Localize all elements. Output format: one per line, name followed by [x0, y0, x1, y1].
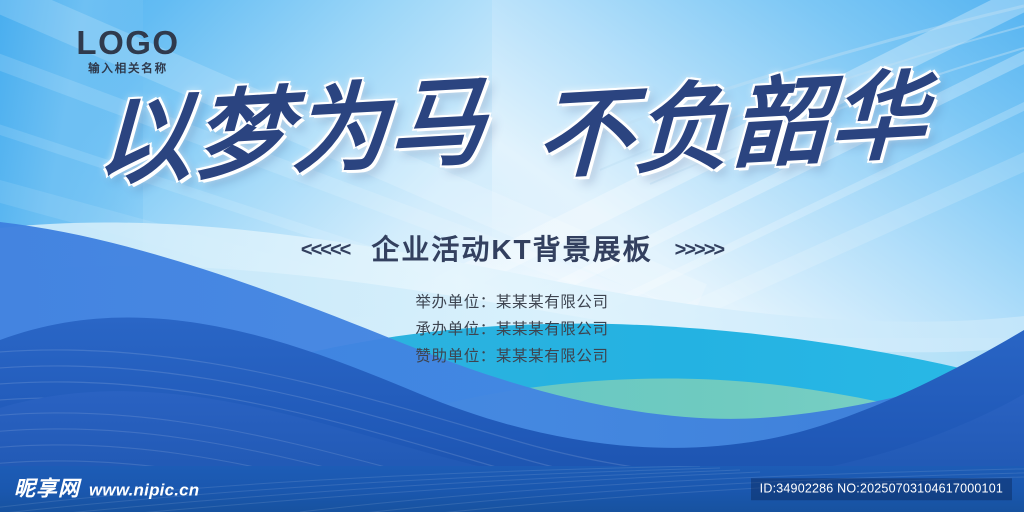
- logo-subtitle: 输入相关名称: [58, 64, 198, 76]
- organizer-host-line: 举办单位：某某某有限公司: [415, 292, 608, 314]
- logo-wordmark: LOGO: [58, 26, 198, 59]
- organizer-sponsor-line: 赞助单位：某某某有限公司: [415, 346, 608, 368]
- organizer-list: 举办单位：某某某有限公司 承办单位：某某某有限公司 赞助单位：某某某有限公司: [0, 292, 1024, 368]
- brand-name-cn: 昵享网: [14, 479, 80, 500]
- right-chevrons-icon: >>>>>: [675, 240, 723, 260]
- logo-block: LOGO 输入相关名称: [58, 26, 198, 76]
- site-brand: 昵享网 www.nipic.cn: [14, 479, 199, 500]
- image-id-badge: ID:34902286 NO:20250703104617000101: [751, 478, 1012, 500]
- subtitle-row: <<<<< 企业活动KT背景展板 >>>>>: [0, 236, 1024, 264]
- left-chevrons-icon: <<<<<: [301, 240, 349, 260]
- organizer-undertaker-line: 承办单位：某某某有限公司: [415, 319, 608, 341]
- footer-bar: 昵享网 www.nipic.cn ID:34902286 NO:20250703…: [0, 466, 1024, 512]
- subtitle-text: 企业活动KT背景展板: [371, 236, 652, 264]
- brand-url: www.nipic.cn: [89, 482, 199, 499]
- poster-canvas: LOGO 输入相关名称 以梦为马 不负韶华 <<<<< 企业活动KT背景展板 >…: [0, 0, 1024, 512]
